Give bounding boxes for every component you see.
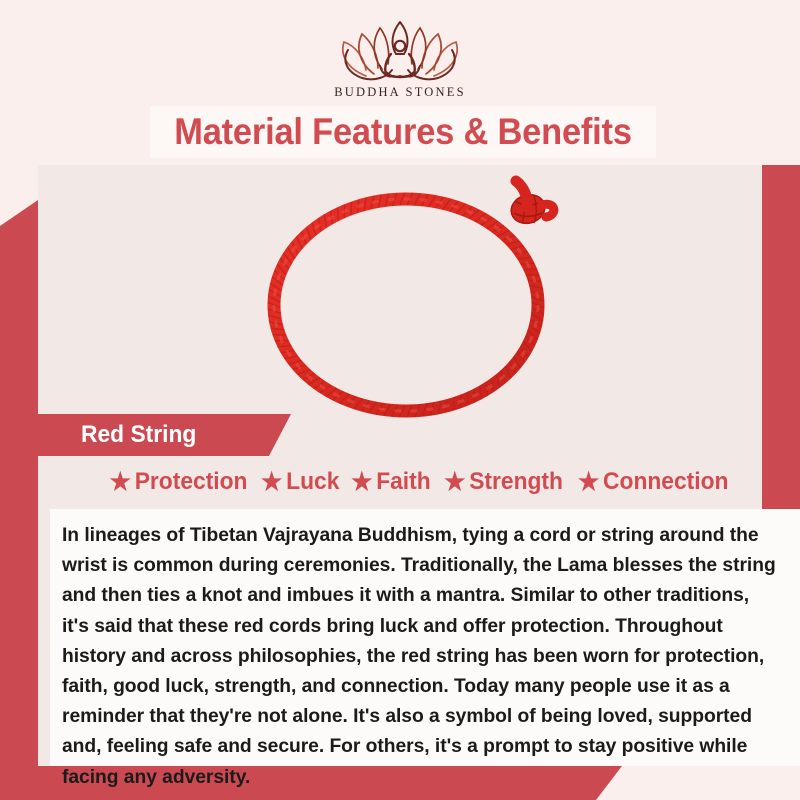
star-icon: ★ [444, 470, 465, 495]
benefits-row: ★ Protection ★ Luck ★ Faith ★ Strength ★… [38, 461, 800, 503]
cord-knot [508, 181, 554, 228]
star-icon: ★ [351, 470, 372, 495]
benefit-item-0: ★ Protection [105, 468, 250, 496]
figure-head [395, 41, 405, 51]
description-card: In lineages of Tibetan Vajrayana Buddhis… [50, 509, 800, 766]
brand-logo: BUDDHA STONES [0, 14, 800, 100]
benefit-label: Connection [603, 468, 728, 496]
material-name-label: Red String [81, 421, 196, 449]
star-icon: ★ [261, 470, 282, 495]
benefit-item-3: ★ Strength [440, 468, 566, 496]
infographic-page: BUDDHA STONES Material Features & Benefi… [0, 0, 800, 800]
title-banner: Material Features & Benefits [150, 106, 656, 158]
material-name-banner: Red String [38, 414, 291, 456]
star-icon: ★ [109, 470, 130, 495]
description-text: In lineages of Tibetan Vajrayana Buddhis… [62, 521, 776, 793]
lotus-meditation-figure-icon [336, 14, 464, 82]
benefit-label: Luck [286, 468, 339, 496]
header: BUDDHA STONES Material Features & Benefi… [0, 0, 800, 165]
benefit-item-4: ★ Connection [574, 468, 732, 496]
benefit-item-2: ★ Faith [347, 468, 434, 496]
benefit-label: Faith [376, 468, 430, 496]
red-braided-string-bracelet [236, 157, 596, 427]
benefit-item-1: ★ Luck [257, 468, 343, 496]
main-content: Red String ★ Protection ★ Luck ★ Faith ★… [38, 165, 800, 766]
brand-name: BUDDHA STONES [334, 85, 466, 100]
benefit-label: Strength [469, 468, 563, 496]
benefit-label: Protection [134, 468, 247, 496]
product-image-area [38, 165, 800, 418]
page-title: Material Features & Benefits [174, 111, 632, 153]
star-icon: ★ [578, 470, 599, 495]
decorative-band-left [0, 200, 38, 800]
